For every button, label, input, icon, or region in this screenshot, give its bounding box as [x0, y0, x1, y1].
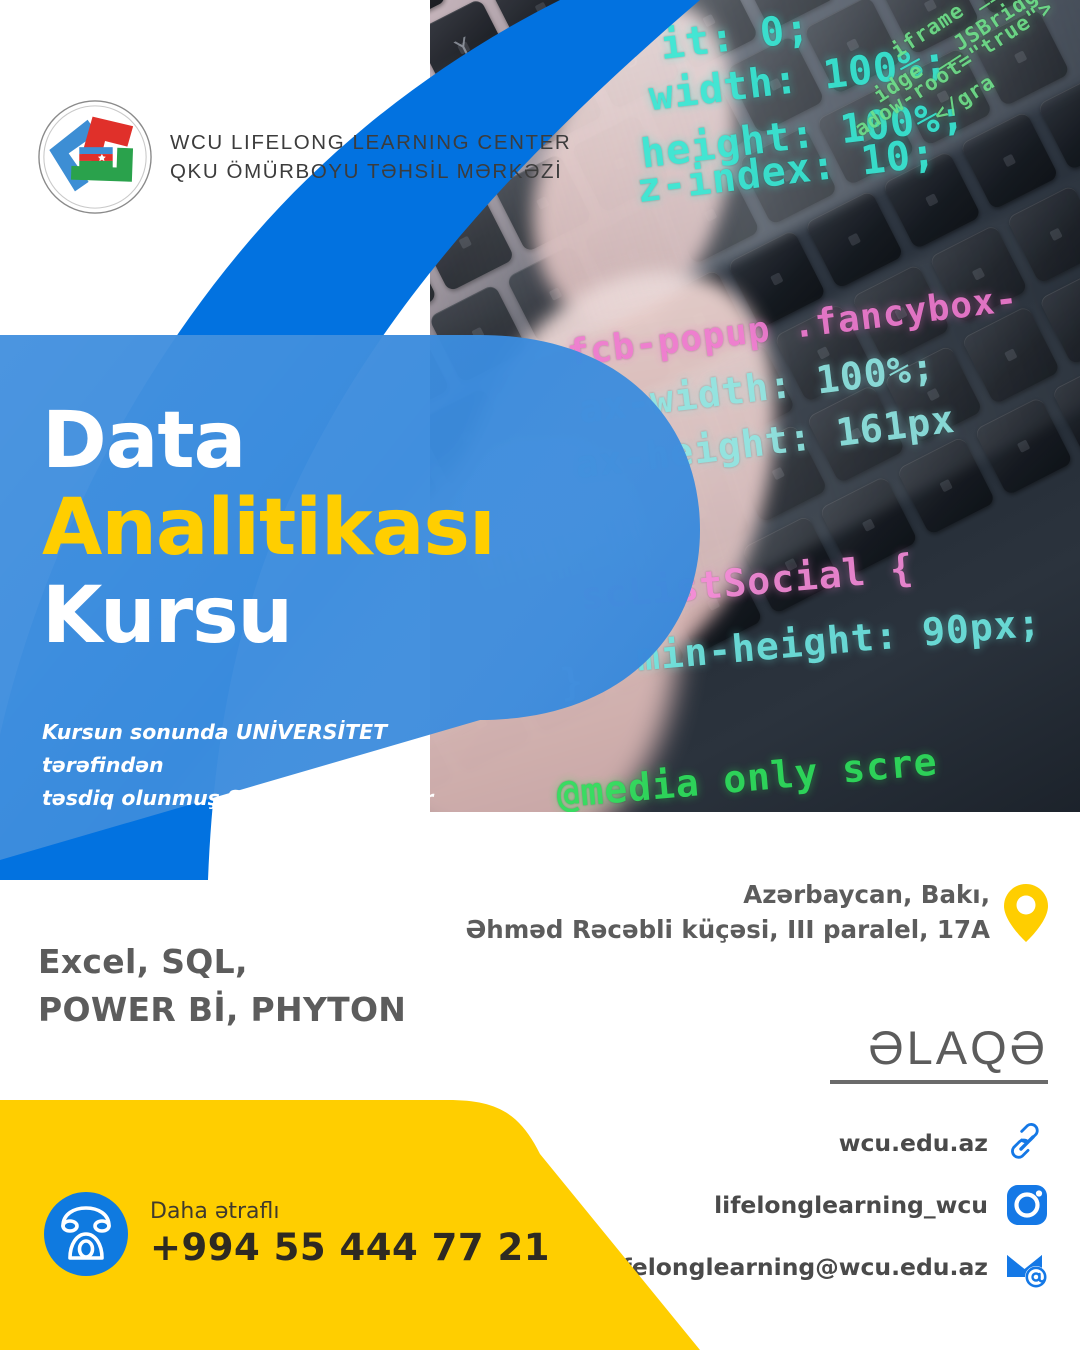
address-text: Azərbaycan, Bakı, Əhməd Rəcəbli küçəsi, …: [465, 878, 990, 948]
brand-logo-text: WCU LIFELONG LEARNING CENTER QKU ÖMÜRBOY…: [170, 128, 571, 186]
title-line-3: Kursu: [42, 573, 495, 660]
address-line-2: Əhməd Rəcəbli küçəsi, III paralel, 17A: [465, 913, 990, 948]
brand-logo-block: WCU LIFELONG LEARNING CENTER QKU ÖMÜRBOY…: [36, 98, 571, 216]
link-icon: [1006, 1122, 1048, 1164]
skills-line-1: Excel, SQL,: [38, 938, 406, 986]
brand-line-1: WCU LIFELONG LEARNING CENTER: [170, 128, 571, 157]
wcu-circular-logo-icon: [36, 98, 154, 216]
contact-heading-block: ƏLAQƏ: [830, 1024, 1048, 1084]
subtitle-line-1: Kursun sonunda UNİVERSİTET tərəfindən: [42, 716, 472, 782]
contact-heading-underline: [830, 1080, 1048, 1084]
phone-caption: Daha ətraflı: [150, 1200, 550, 1224]
subtitle-line-2: təsdiq olunmuş SERTİFİKAT verilir: [42, 782, 472, 815]
phone-text-block: Daha ətraflı +994 55 444 77 21: [150, 1200, 550, 1267]
email-at-icon: [1006, 1246, 1048, 1288]
certificate-subtitle: Kursun sonunda UNİVERSİTET tərəfindən tə…: [42, 716, 472, 816]
address-block: Azərbaycan, Bakı, Əhməd Rəcəbli küçəsi, …: [465, 878, 1048, 948]
phone-block[interactable]: Daha ətraflı +994 55 444 77 21: [44, 1192, 550, 1276]
instagram-icon: [1006, 1184, 1048, 1226]
course-title: Data Analitikası Kursu: [42, 398, 495, 660]
title-line-1: Data: [42, 398, 495, 485]
contact-label-website: wcu.edu.az: [839, 1129, 988, 1157]
address-line-1: Azərbaycan, Bakı,: [465, 878, 990, 913]
brand-line-2: QKU ÖMÜRBOYU TƏHSİL MƏRKƏZİ: [170, 157, 571, 186]
phone-number: +994 55 444 77 21: [150, 1229, 550, 1268]
title-line-2: Analitikası: [42, 485, 495, 572]
poster-root: GYUB8*96 it: 0;width: 100%;height: 100%;…: [0, 0, 1080, 1350]
skills-list: Excel, SQL, POWER Bİ, PHYTON: [38, 938, 406, 1033]
map-pin-icon: [1004, 884, 1048, 942]
rotary-phone-icon: [44, 1192, 128, 1276]
contact-heading: ƏLAQƏ: [830, 1024, 1048, 1071]
skills-line-2: POWER Bİ, PHYTON: [38, 986, 406, 1034]
